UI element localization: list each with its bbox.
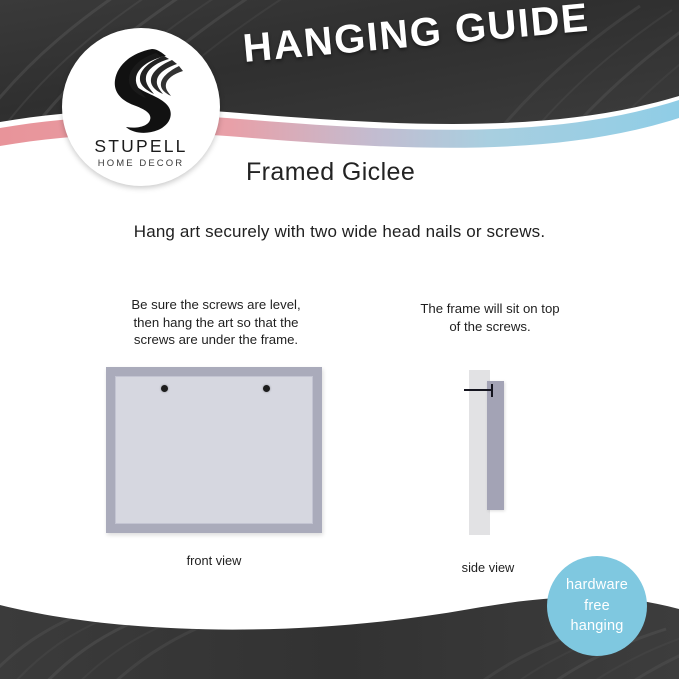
side-view-caption-line-1: The frame will sit on top xyxy=(390,300,590,318)
front-view-screw-dot-right xyxy=(263,385,270,392)
front-view-frame-artwork xyxy=(115,376,313,524)
lead-instruction-text: Hang art securely with two wide head nai… xyxy=(0,222,679,242)
front-view-caption-line-1: Be sure the screws are level, xyxy=(96,296,336,314)
badge-line-1: hardware xyxy=(566,575,628,596)
front-view-frame-diagram xyxy=(106,367,322,533)
badge-line-2: free xyxy=(584,596,610,617)
front-view-screw-dot-left xyxy=(161,385,168,392)
brand-logo-badge: STUPELL HOME DECOR xyxy=(62,28,220,186)
product-type-heading: Framed Giclee xyxy=(246,158,415,187)
side-view-screw-head-icon xyxy=(491,384,493,397)
side-view-screw-shaft-icon xyxy=(464,389,493,391)
stupell-swoosh-logo-icon xyxy=(90,44,192,136)
badge-line-3: hanging xyxy=(570,616,623,637)
logo-brand-subtitle: HOME DECOR xyxy=(62,158,220,169)
side-view-caption: The frame will sit on top of the screws. xyxy=(390,300,590,335)
front-view-label: front view xyxy=(96,553,332,568)
front-view-caption-line-3: screws are under the frame. xyxy=(96,331,336,349)
front-view-caption-line-2: then hang the art so that the xyxy=(96,314,336,332)
side-view-caption-line-2: of the screws. xyxy=(390,318,590,336)
side-view-frame xyxy=(487,381,504,510)
logo-brand-name: STUPELL xyxy=(62,136,220,157)
hanging-guide-page: HANGING GUIDE STUPELL HOME DECOR Framed … xyxy=(0,0,679,679)
front-view-caption: Be sure the screws are level, then hang … xyxy=(96,296,336,349)
hardware-free-hanging-badge: hardware free hanging xyxy=(547,556,647,656)
